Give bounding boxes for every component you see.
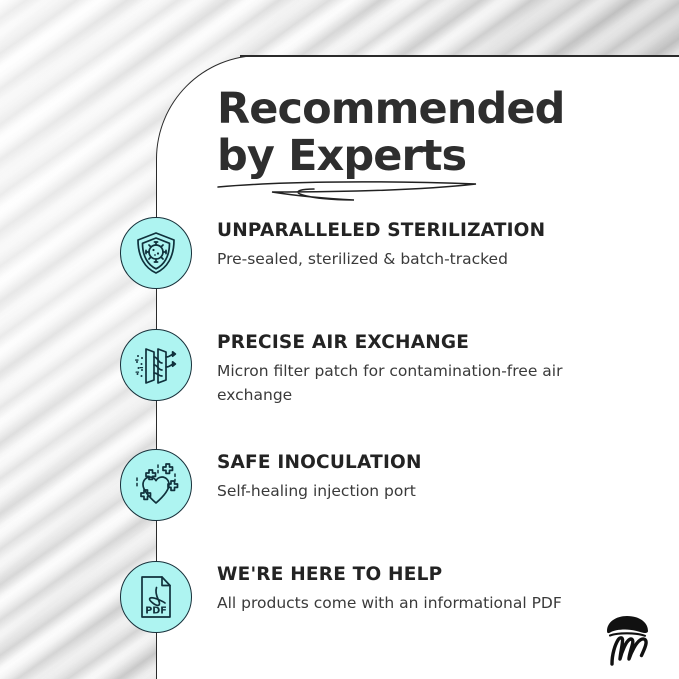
feature-row: PRECISE AIR EXCHANGE Micron filter patch… [0, 329, 679, 409]
panel-top-border [240, 55, 679, 57]
feature-subtext: All products come with an informational … [217, 591, 595, 615]
feature-subtext: Pre-sealed, sterilized & batch-tracked [217, 247, 595, 271]
shield-virus-icon [120, 217, 192, 289]
pdf-document-icon: PDF [120, 561, 192, 633]
mushroom-m-logo [598, 614, 656, 666]
pdf-label: PDF [145, 606, 167, 617]
promo-infographic: Recommended by Experts UNPARALLELE [0, 0, 679, 679]
title-line-1: Recommended [217, 86, 647, 133]
feature-row: PDF WE'RE HERE TO HELP All products come… [0, 561, 679, 641]
page-title: Recommended by Experts [217, 86, 647, 180]
air-filter-exchange-icon [120, 329, 192, 401]
feature-heading: WE'RE HERE TO HELP [217, 563, 657, 587]
feature-heading: UNPARALLELED STERILIZATION [217, 219, 657, 243]
feature-text: SAFE INOCULATION Self-healing injection … [217, 451, 657, 503]
heart-plus-icon [120, 449, 192, 521]
feature-row: SAFE INOCULATION Self-healing injection … [0, 449, 679, 529]
feature-subtext: Micron filter patch for contamination-fr… [217, 359, 595, 407]
title-line-2: by Experts [217, 133, 647, 180]
feature-heading: SAFE INOCULATION [217, 451, 657, 475]
feature-subtext: Self-healing injection port [217, 479, 595, 503]
feature-text: WE'RE HERE TO HELP All products come wit… [217, 563, 657, 615]
feature-heading: PRECISE AIR EXCHANGE [217, 331, 657, 355]
feature-text: PRECISE AIR EXCHANGE Micron filter patch… [217, 331, 657, 407]
feature-row: UNPARALLELED STERILIZATION Pre-sealed, s… [0, 217, 679, 297]
feature-text: UNPARALLELED STERILIZATION Pre-sealed, s… [217, 219, 657, 271]
